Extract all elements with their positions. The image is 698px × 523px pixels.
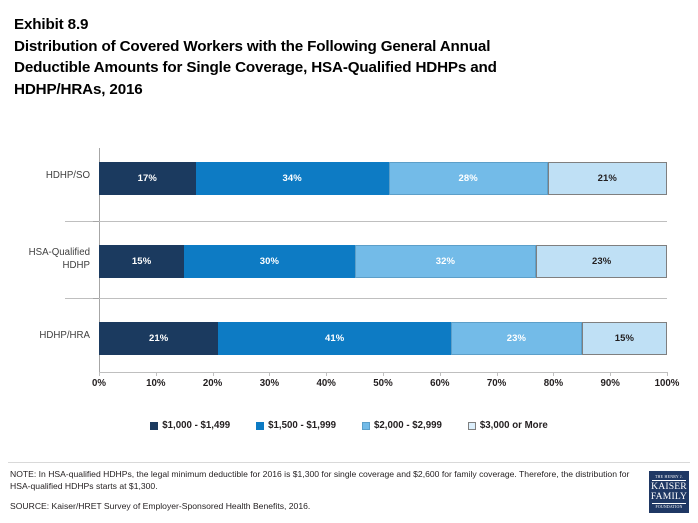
x-axis-label: 20%	[190, 378, 236, 389]
category-separator	[65, 221, 667, 222]
x-axis-tick	[269, 372, 270, 376]
y-axis-tick	[93, 298, 99, 299]
legend-swatch-icon	[150, 422, 158, 430]
x-axis-label: 30%	[246, 378, 292, 389]
legend-item[interactable]: $2,000 - $2,999	[362, 420, 442, 431]
title-line-1: Distribution of Covered Workers with the…	[14, 36, 674, 58]
footer-divider	[8, 462, 690, 463]
bar-segment[interactable]: 21%	[99, 322, 218, 355]
bar-segment[interactable]: 15%	[582, 322, 667, 355]
legend-swatch-icon	[362, 422, 370, 430]
stacked-bar-chart: 17%34%28%21%HDHP/SO15%30%32%23%HSA-Quali…	[0, 148, 698, 398]
bar-segment[interactable]: 28%	[389, 162, 548, 195]
title-line-2: Deductible Amounts for Single Coverage, …	[14, 57, 674, 79]
legend-swatch-icon	[256, 422, 264, 430]
y-axis-tick	[93, 221, 99, 222]
x-axis-tick	[497, 372, 498, 376]
bar-segment[interactable]: 21%	[548, 162, 667, 195]
x-axis-label: 70%	[474, 378, 520, 389]
legend-label: $1,500 - $1,999	[268, 420, 336, 431]
x-axis-tick	[610, 372, 611, 376]
x-axis-tick	[553, 372, 554, 376]
kaiser-family-foundation-logo: THE HENRY J. KAISER FAMILY FOUNDATION	[648, 470, 690, 514]
bar-segment[interactable]: 23%	[451, 322, 582, 355]
x-axis-label: 90%	[587, 378, 633, 389]
footer-note: NOTE: In HSA-qualified HDHPs, the legal …	[10, 468, 634, 493]
x-axis-tick	[440, 372, 441, 376]
x-axis-label: 50%	[360, 378, 406, 389]
bar-segment[interactable]: 34%	[196, 162, 389, 195]
bar-segment[interactable]: 41%	[218, 322, 451, 355]
logo-top-line: THE HENRY J.	[652, 475, 686, 481]
legend-swatch-icon	[468, 422, 476, 430]
logo-foundation: FOUNDATION	[652, 503, 686, 509]
category-label: HDHP/HRA	[0, 329, 90, 342]
exhibit-number: Exhibit 8.9	[14, 14, 674, 36]
x-axis-label: 10%	[133, 378, 179, 389]
x-axis-label: 100%	[644, 378, 690, 389]
page-title: Exhibit 8.9 Distribution of Covered Work…	[14, 14, 674, 100]
bar-row[interactable]: 17%34%28%21%	[99, 162, 667, 195]
legend-label: $2,000 - $2,999	[374, 420, 442, 431]
footer-source: SOURCE: Kaiser/HRET Survey of Employer-S…	[10, 500, 634, 512]
bar-segment[interactable]: 23%	[536, 245, 667, 278]
x-axis-label: 40%	[303, 378, 349, 389]
category-label: HSA-QualifiedHDHP	[0, 246, 90, 272]
category-separator	[65, 298, 667, 299]
bar-segment[interactable]: 32%	[355, 245, 537, 278]
x-axis-tick	[156, 372, 157, 376]
legend-item[interactable]: $3,000 or More	[468, 420, 548, 431]
legend-item[interactable]: $1,000 - $1,499	[150, 420, 230, 431]
x-axis-tick	[213, 372, 214, 376]
legend-label: $3,000 or More	[480, 420, 548, 431]
title-line-3: HDHP/HRAs, 2016	[14, 79, 674, 101]
x-axis-tick	[326, 372, 327, 376]
x-axis-label: 80%	[530, 378, 576, 389]
x-axis-tick	[383, 372, 384, 376]
logo-family: FAMILY	[651, 492, 687, 502]
bar-segment[interactable]: 30%	[184, 245, 354, 278]
bar-row[interactable]: 15%30%32%23%	[99, 245, 667, 278]
x-axis-label: 60%	[417, 378, 463, 389]
bar-segment[interactable]: 15%	[99, 245, 184, 278]
category-label: HDHP/SO	[0, 169, 90, 182]
bar-segment[interactable]: 17%	[99, 162, 196, 195]
footer: NOTE: In HSA-qualified HDHPs, the legal …	[10, 468, 634, 512]
legend-item[interactable]: $1,500 - $1,999	[256, 420, 336, 431]
bar-row[interactable]: 21%41%23%15%	[99, 322, 667, 355]
x-axis-tick	[667, 372, 668, 376]
x-axis-label: 0%	[76, 378, 122, 389]
legend-label: $1,000 - $1,499	[162, 420, 230, 431]
chart-legend: $1,000 - $1,499$1,500 - $1,999$2,000 - $…	[0, 420, 698, 431]
x-axis-tick	[99, 372, 100, 376]
